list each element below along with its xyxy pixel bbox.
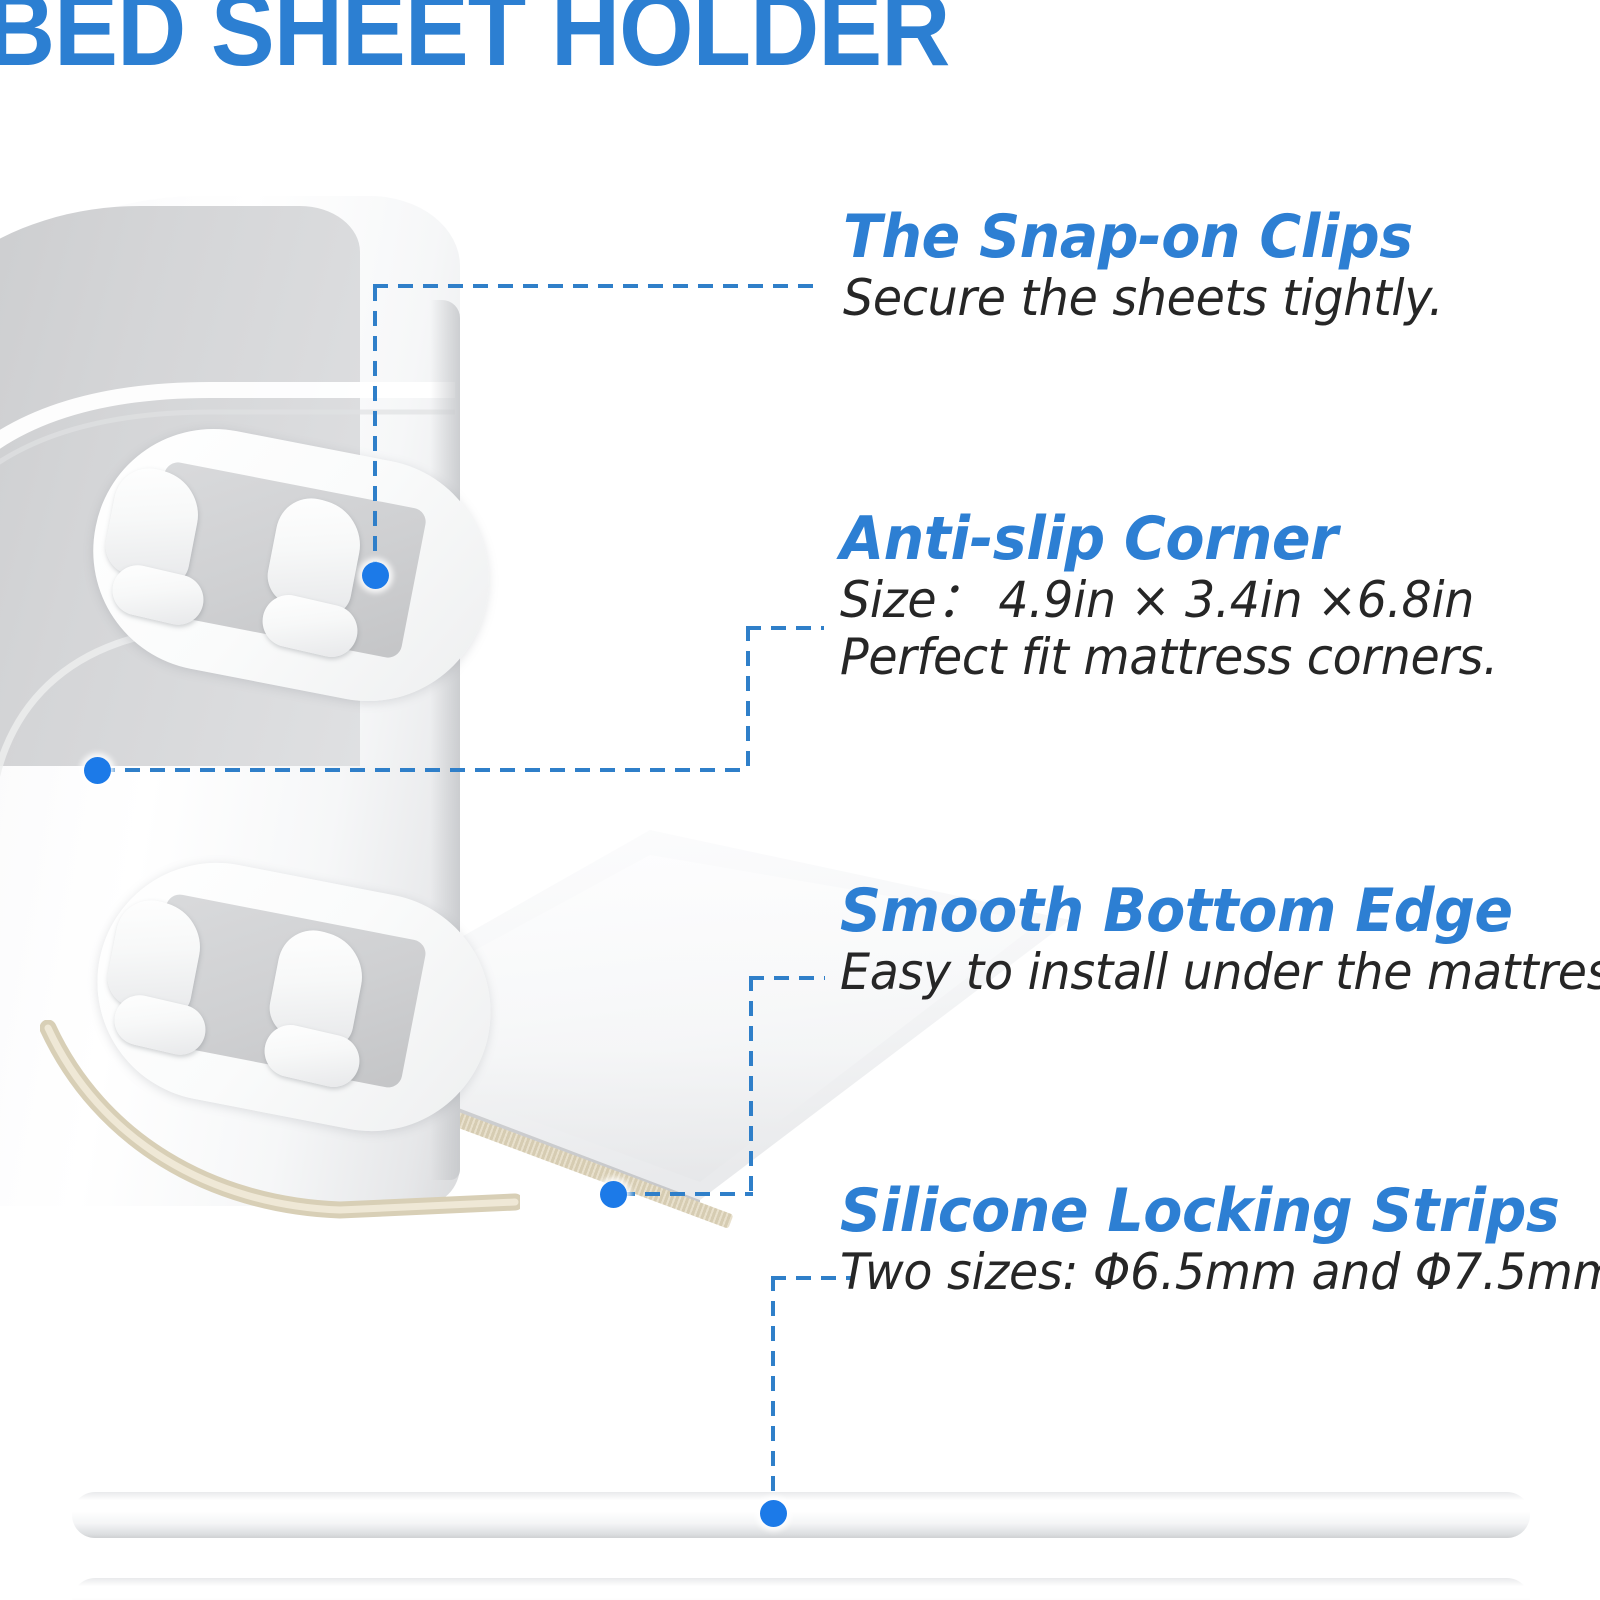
callout-snap-on-clips: The Snap-on Clips Secure the sheets tigh… (843, 206, 1475, 327)
callout-3-heading: Smooth Bottom Edge (840, 880, 1600, 944)
silicone-locking-strip-upper (72, 1492, 1530, 1538)
callout-anti-slip-corner: Anti-slip Corner Size： 4.9in × 3.4in ×6.… (840, 508, 1533, 686)
leader-line-3-horizontal-upper (749, 976, 825, 980)
leader-dot-2 (84, 757, 111, 784)
callout-smooth-bottom-edge: Smooth Bottom Edge Easy to install under… (840, 880, 1600, 1001)
callout-1-heading: The Snap-on Clips (843, 206, 1443, 270)
callout-2-line-2: Perfect fit mattress corners. (840, 629, 1498, 686)
leader-line-1-vertical (373, 286, 377, 576)
leader-line-4-horizontal (771, 1276, 851, 1280)
callout-4-line-1: Two sizes: Φ6.5mm and Φ7.5mm. (840, 1244, 1600, 1301)
callout-2-line-1: Size： 4.9in × 3.4in ×6.8in (840, 572, 1498, 629)
leader-dot-4 (760, 1500, 787, 1527)
leader-line-3-vertical (749, 976, 753, 1196)
leader-line-3-horizontal-lower (620, 1192, 753, 1196)
callout-2-heading: Anti-slip Corner (840, 508, 1498, 572)
leader-line-4-vertical (771, 1276, 775, 1508)
callout-silicone-locking-strips: Silicone Locking Strips Two sizes: Φ6.5m… (840, 1180, 1600, 1301)
infographic-page: BED SHEET HOLDER The Snap-on Clips Secur… (0, 0, 1600, 1600)
leader-line-2-vertical (746, 626, 750, 772)
leader-dot-1 (362, 562, 389, 589)
leader-line-1-horizontal (373, 284, 823, 288)
silicone-locking-strip-lower (72, 1578, 1530, 1600)
leader-dot-3 (600, 1181, 627, 1208)
callout-1-line-1: Secure the sheets tightly. (843, 270, 1443, 327)
leader-line-2-horizontal-lower (100, 768, 750, 772)
leader-line-2-horizontal-upper (746, 626, 824, 630)
page-title: BED SHEET HOLDER (0, 0, 949, 82)
callout-3-line-1: Easy to install under the mattress. (840, 944, 1600, 1001)
callout-4-heading: Silicone Locking Strips (840, 1180, 1600, 1244)
